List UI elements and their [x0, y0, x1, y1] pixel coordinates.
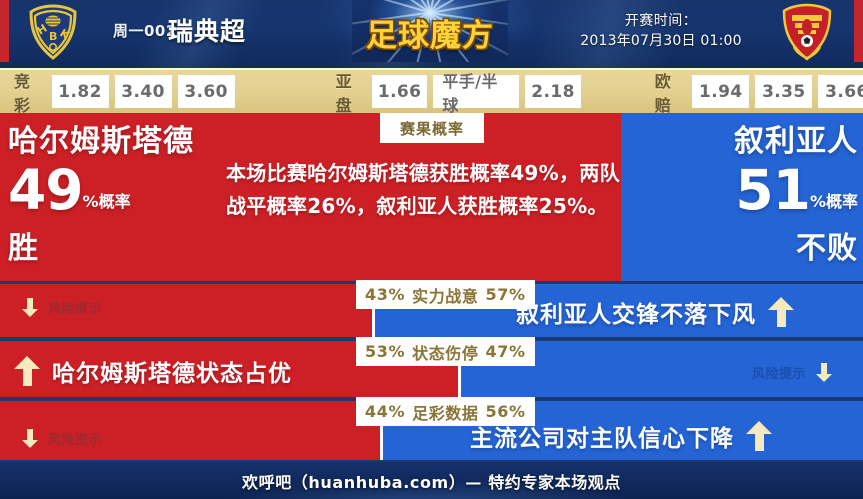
home-probability-unit: %概率 [83, 192, 131, 211]
row-home-message-text: 哈尔姆斯塔德状态占优 [52, 354, 292, 388]
footer-credit: 欢呼吧（huanhuba.com）— 特约专家本场观点 [242, 469, 621, 493]
row-home-risk-note: 风险提示 [22, 429, 102, 448]
svg-text:B: B [49, 30, 57, 43]
arrow-up-icon [768, 297, 794, 327]
away-probability-value: 51 [735, 158, 810, 222]
row-right-percent: 57% [486, 285, 526, 304]
row-center-chip: 43% 实力战意 57% [356, 280, 535, 309]
result-probability-tab: 赛果概率 [380, 113, 484, 143]
handicap-cell-line[interactable]: 平手/半球 [433, 75, 519, 108]
row-away-message-text: 叙利亚人交锋不落下风 [516, 295, 756, 329]
result-probability-band: 哈尔姆斯塔德 49%概率 胜 叙利亚人 51%概率 不败 赛果概率 本场比赛哈尔… [0, 113, 863, 281]
footer-bar: 欢呼吧（huanhuba.com）— 特约专家本场观点 [0, 462, 863, 499]
header-right-accent [854, 0, 863, 62]
euro-odds-draw[interactable]: 3.35 [755, 75, 812, 108]
odds-group-jingcai: 竞彩 1.82 3.40 3.60 [14, 68, 241, 116]
home-probability-line: 49%概率 [8, 161, 228, 231]
brand-logo-block: 足球魔方 [352, 0, 508, 62]
odds-cell-draw[interactable]: 3.40 [115, 75, 172, 108]
away-team-summary: 叙利亚人 51%概率 不败 [640, 123, 858, 267]
row-center-chip: 44% 足彩数据 56% [356, 397, 535, 426]
odds-cell-away[interactable]: 3.60 [178, 75, 235, 108]
row-left-percent: 53% [365, 342, 405, 361]
handicap-cell-home[interactable]: 1.66 [372, 75, 427, 108]
home-verdict: 胜 [8, 231, 228, 267]
row-category-label: 足彩数据 [412, 400, 478, 424]
header-bar: H B K 周一002 瑞典超 足球魔方 开赛时间： 2013年07月30日 [0, 0, 863, 68]
odds-bar: 竞彩 1.82 3.40 3.60 亚盘 1.66 平手/半球 2.18 欧赔 … [0, 68, 863, 113]
row-away-risk-note: 风险提示 [752, 363, 832, 382]
kickoff-block: 开赛时间： 2013年07月30日 01:00 [556, 12, 766, 51]
arrow-down-icon [816, 363, 832, 382]
away-probability-unit: %概率 [810, 192, 858, 211]
home-probability-value: 49 [8, 158, 83, 222]
result-probability-description: 本场比赛哈尔姆斯塔德获胜概率49%，两队战平概率26%，叙利亚人获胜概率25%。 [226, 157, 622, 223]
home-team-logo: H B K [23, 4, 83, 60]
odds-group-title: 亚盘 [336, 68, 365, 116]
odds-group-yapan: 亚盘 1.66 平手/半球 2.18 [336, 68, 587, 116]
away-team-logo [778, 3, 836, 61]
row-home-message: 哈尔姆斯塔德状态占优 [14, 354, 292, 388]
arrow-down-icon [22, 429, 38, 448]
row-away-risk-text: 风险提示 [752, 363, 806, 382]
arrow-up-icon [14, 356, 40, 386]
brand-name: 足球魔方 [352, 10, 508, 55]
row-right-percent: 56% [486, 402, 526, 421]
kickoff-time: 2013年07月30日 01:00 [556, 31, 766, 51]
row-home-risk-text: 风险提示 [48, 429, 102, 448]
handicap-cell-away[interactable]: 2.18 [525, 75, 580, 108]
kickoff-label: 开赛时间： [556, 12, 766, 31]
home-team-summary: 哈尔姆斯塔德 49%概率 胜 [8, 123, 228, 267]
odds-group-title: 欧赔 [655, 68, 686, 116]
away-verdict: 不败 [640, 231, 858, 267]
odds-group-oupei: 欧赔 1.94 3.35 3.66 [655, 68, 863, 116]
row-category-label: 状态伤停 [412, 340, 478, 364]
header-left-accent [0, 0, 9, 62]
row-right-percent: 47% [486, 342, 526, 361]
euro-odds-home[interactable]: 1.94 [692, 75, 749, 108]
home-team-name: 哈尔姆斯塔德 [8, 123, 228, 161]
arrow-up-icon [746, 421, 772, 451]
row-center-chip: 53% 状态伤停 47% [356, 337, 535, 366]
away-team-name: 叙利亚人 [640, 123, 858, 161]
comparison-row: 43% 实力战意 57% 风险提示 叙利亚人交锋不落下风 [0, 284, 863, 337]
away-probability-line: 51%概率 [640, 161, 858, 231]
comparison-row: 53% 状态伤停 47% 哈尔姆斯塔德状态占优 风险提示 [0, 341, 863, 397]
arrow-down-icon [22, 298, 38, 317]
row-left-percent: 43% [365, 285, 405, 304]
row-category-label: 实力战意 [412, 283, 478, 307]
row-left-percent: 44% [365, 402, 405, 421]
row-away-message: 叙利亚人交锋不落下风 [516, 295, 794, 329]
row-home-risk-text: 风险提示 [48, 298, 102, 317]
row-home-risk-note: 风险提示 [22, 298, 102, 317]
league-name: 瑞典超 [168, 12, 246, 48]
match-preview-infographic: H B K 周一002 瑞典超 足球魔方 开赛时间： 2013年07月30日 [0, 0, 863, 499]
odds-group-title: 竞彩 [14, 68, 45, 116]
odds-cell-home[interactable]: 1.82 [52, 75, 109, 108]
euro-odds-away[interactable]: 3.66 [818, 75, 863, 108]
comparison-row: 44% 足彩数据 56% 风险提示 主流公司对主队信心下降 [0, 401, 863, 460]
